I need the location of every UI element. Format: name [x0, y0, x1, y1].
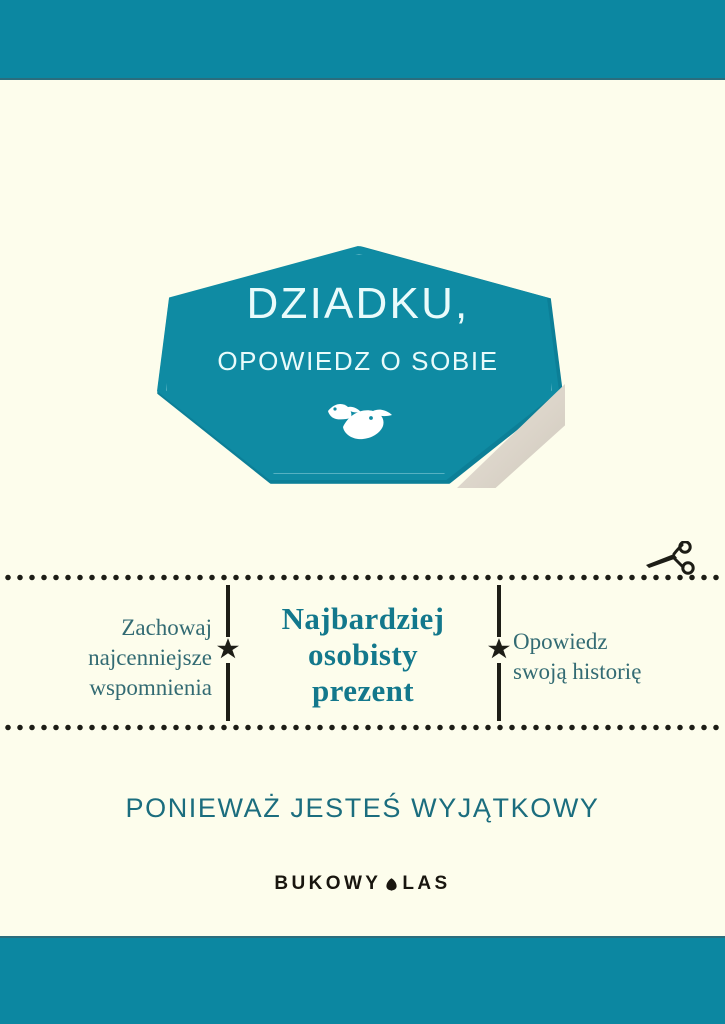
feature-right-line-2: swoją historię: [513, 657, 688, 687]
separator-bar-top: [226, 585, 230, 637]
feature-center-headline: Najbardziej osobisty prezent: [240, 601, 486, 709]
features-band: Zachowaj najcenniejsze wspomnienia Najba…: [0, 585, 725, 721]
feature-left-line-2: najcenniejsze: [46, 643, 212, 673]
feature-right: Opowiedz swoją historię: [513, 627, 688, 687]
tree-leaf-icon: [384, 877, 399, 892]
book-subtitle: OPOWIEDZ O SOBIE: [157, 348, 559, 374]
dotted-cut-line-bottom: [0, 724, 725, 731]
bird-icon: [321, 394, 395, 442]
feature-left: Zachowaj najcenniejsze wspomnienia: [46, 613, 212, 703]
separator-bar-bottom: [497, 663, 501, 721]
feature-left-line-3: wspomnienia: [46, 673, 212, 703]
publisher-name-part-2: LAS: [402, 873, 450, 895]
title-badge: DZIADKU, OPOWIEDZ O SOBIE: [157, 246, 563, 484]
dotted-cut-line-top: [0, 574, 725, 581]
top-color-band: [0, 0, 725, 80]
book-cover: DZIADKU, OPOWIEDZ O SOBIE: [0, 0, 725, 1024]
feature-center-line-3: prezent: [240, 673, 486, 709]
separator-bar-bottom: [226, 663, 230, 721]
book-title: DZIADKU,: [157, 282, 559, 326]
publisher-logo: BUKOWY LAS: [0, 873, 725, 895]
six-pointed-star-icon: [488, 638, 510, 662]
separator-bar-top: [497, 585, 501, 637]
two-birds-emblem: [157, 394, 559, 442]
feature-center-line-2: osobisty: [240, 637, 486, 673]
publisher-name-part-1: BUKOWY: [274, 873, 381, 895]
scissors-icon: [644, 541, 698, 577]
separator-right: [488, 585, 510, 731]
feature-left-line-1: Zachowaj: [46, 613, 212, 643]
bottom-color-band: [0, 936, 725, 1024]
six-pointed-star-icon: [217, 638, 239, 662]
separator-left: [217, 585, 239, 731]
feature-right-line-1: Opowiedz: [513, 627, 688, 657]
feature-center-line-1: Najbardziej: [240, 601, 486, 637]
cover-tagline: PONIEWAŻ JESTEŚ WYJĄTKOWY: [0, 793, 725, 824]
